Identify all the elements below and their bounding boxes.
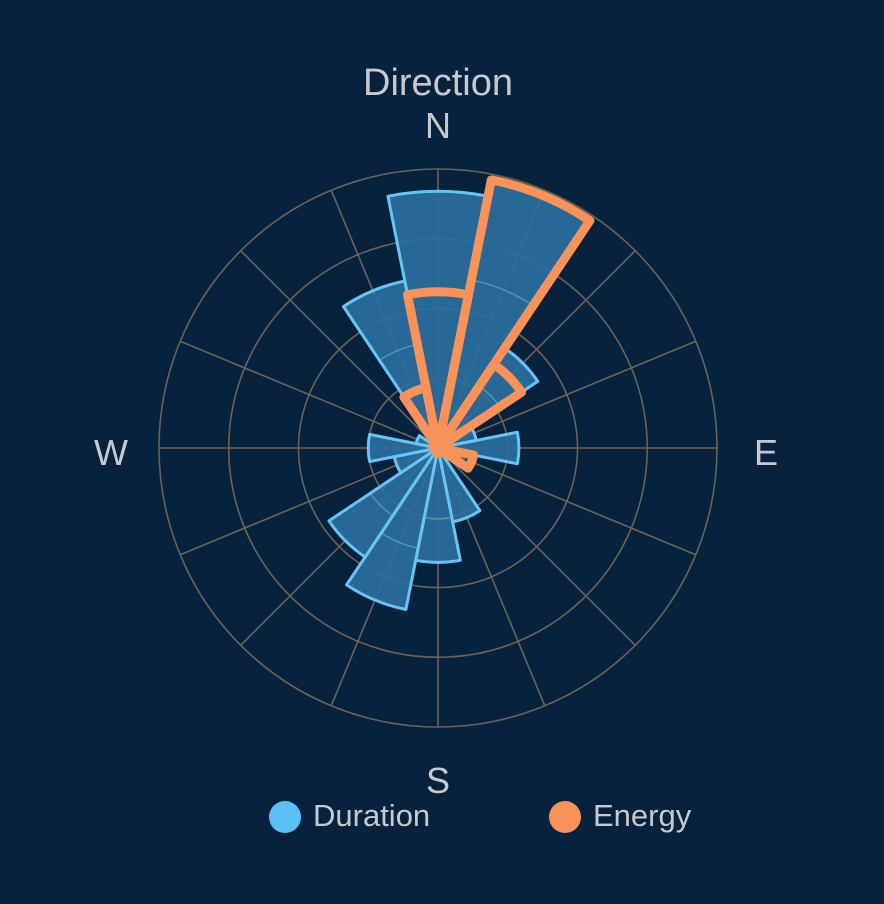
polar-plot-svg: Direction N E S W Duration Energy <box>0 0 884 904</box>
legend-label-duration: Duration <box>313 798 430 833</box>
legend: Duration Energy <box>269 798 692 833</box>
legend-label-energy: Energy <box>593 798 692 833</box>
compass-label-south: S <box>426 760 450 801</box>
compass-label-west: W <box>94 432 128 473</box>
duration-sectors <box>329 177 591 609</box>
legend-swatch-energy-icon <box>549 801 581 833</box>
compass-label-north: N <box>425 105 451 146</box>
compass-label-east: E <box>754 432 778 473</box>
wind-rose-chart: Direction N E S W Duration Energy <box>0 0 884 904</box>
grid-spoke-SE <box>438 448 635 645</box>
page-title: Direction <box>363 62 513 104</box>
legend-swatch-duration-icon <box>269 801 301 833</box>
grid-spoke-ESE <box>438 448 696 555</box>
legend-item-duration[interactable]: Duration <box>269 798 430 833</box>
legend-item-energy[interactable]: Energy <box>549 798 692 833</box>
